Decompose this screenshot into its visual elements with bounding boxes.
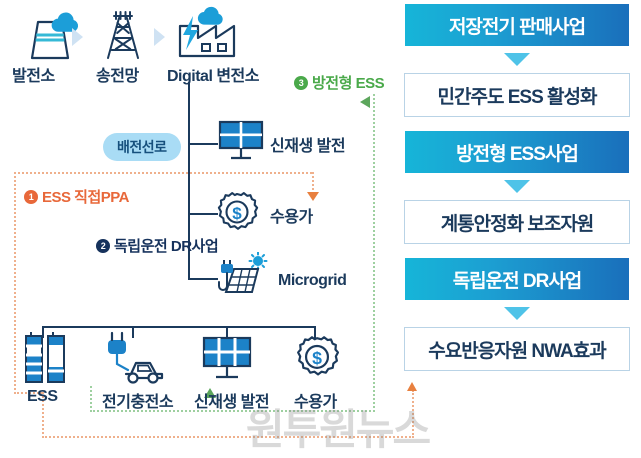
svg-text:$: $ (232, 204, 242, 223)
arrow-down-icon-1 (504, 53, 530, 66)
panel-box-discharge-ess[interactable]: 방전형 ESS사업 (405, 131, 629, 173)
node-label-ess: ESS (27, 388, 58, 406)
transmission-tower-icon (92, 8, 154, 69)
badge-number-3: 3 (294, 76, 308, 90)
chevron-right-icon-2 (154, 28, 165, 46)
panel-box-grid-stability[interactable]: 계통안정화 보조자원 (404, 200, 630, 244)
microgrid-icon (212, 252, 274, 305)
panel-box-private-ess[interactable]: 민간주도 ESS 활성화 (404, 73, 630, 117)
arrow-down-orange-icon (307, 192, 319, 201)
tag-discharge-ess: 3방전형 ESS (294, 72, 384, 93)
solar-panel-icon-2 (200, 334, 254, 389)
arrow-up-orange-icon (407, 382, 417, 391)
tag-discharge-ess-label: 방전형 ESS (312, 75, 384, 92)
tag-independent-dr-label: 독립운전 DR사업 (114, 238, 218, 255)
node-label-transmission: 송전망 (96, 62, 139, 86)
badge-number-1: 1 (24, 190, 38, 204)
solar-panel-icon (216, 118, 266, 171)
badge-distribution-line: 배전선로 (103, 133, 181, 161)
panel-box-storage-sales[interactable]: 저장전기 판매사업 (405, 4, 629, 46)
tag-ess-direct-ppa: 1ESS 직접PPA (24, 186, 129, 207)
tag-independent-dr: 2독립운전 DR사업 (96, 235, 218, 256)
region-orange-left-edge (14, 172, 16, 394)
region-orange-top-edge (14, 172, 312, 174)
panel-box-independent-dr[interactable]: 독립운전 DR사업 (405, 258, 629, 300)
chevron-right-icon (72, 28, 83, 46)
node-label-ev-charger: 전기충전소 (102, 388, 173, 412)
arrow-down-icon-2 (504, 180, 530, 193)
node-label-substation: Digital 변전소 (167, 62, 259, 86)
arrow-down-icon-3 (504, 307, 530, 320)
gear-dollar-icon-2: $ (292, 334, 342, 389)
region-orange-right-stub (312, 172, 314, 194)
gear-dollar-icon: $ (213, 190, 261, 243)
node-label-renewable-mid: 신재생 발전 (270, 132, 345, 156)
region-green-left-edge (90, 386, 92, 412)
watermark: 원투원뉴스 (246, 396, 429, 457)
node-label-microgrid: Microgrid (278, 272, 346, 290)
ev-charging-icon (98, 330, 170, 391)
badge-number-2: 2 (96, 239, 110, 253)
branch-line-renewable (188, 143, 218, 145)
panel-box-nwa-effect[interactable]: 수요반응자원 NWA효과 (404, 327, 630, 371)
battery-icon (20, 330, 72, 391)
node-label-powerplant: 발전소 (12, 62, 55, 86)
svg-text:$: $ (312, 348, 322, 368)
right-panel: 저장전기 판매사업 민간주도 ESS 활성화 방전형 ESS사업 계통안정화 보… (404, 4, 630, 371)
node-label-consumer-mid: 수용가 (270, 203, 313, 227)
region-green-right-edge (373, 94, 375, 412)
tag-ess-direct-ppa-label: ESS 직접PPA (42, 189, 129, 206)
arrow-left-green-icon (360, 96, 370, 108)
diagram-canvas: 발전소 송전망 Digital 변전소 (0, 0, 641, 458)
bottom-bus-line (42, 326, 316, 328)
digital-substation-icon (172, 4, 252, 69)
